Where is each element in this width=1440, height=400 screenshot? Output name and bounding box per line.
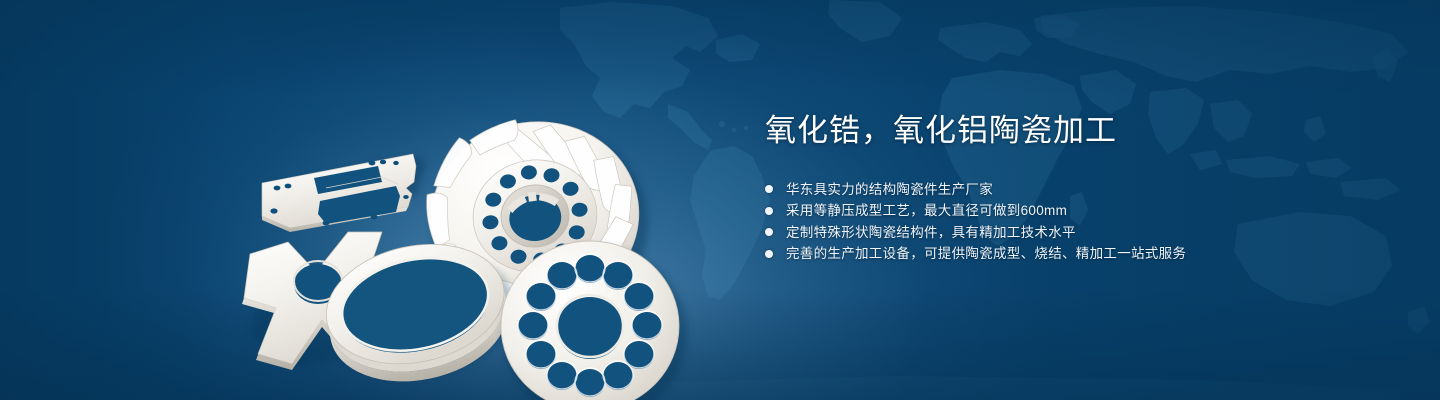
- feature-text: 采用等静压成型工艺，最大直径可做到600mm: [786, 203, 1067, 218]
- bullet-dot-icon: [765, 228, 773, 236]
- feature-text: 华东具实力的结构陶瓷件生产厂家: [786, 182, 993, 197]
- bullet-dot-icon: [765, 250, 773, 258]
- banner-copy: 氧化锆，氧化铝陶瓷加工 华东具实力的结构陶瓷件生产厂家 采用等静压成型工艺，最大…: [765, 112, 1385, 265]
- feature-item: 完善的生产加工设备，可提供陶瓷成型、烧结、精加工一站式服务: [765, 243, 1385, 265]
- feature-text: 完善的生产加工设备，可提供陶瓷成型、烧结、精加工一站式服务: [786, 246, 1186, 261]
- feature-text: 定制特殊形状陶瓷结构件，具有精加工技术水平: [786, 225, 1076, 240]
- feature-item: 采用等静压成型工艺，最大直径可做到600mm: [765, 200, 1385, 222]
- feature-list: 华东具实力的结构陶瓷件生产厂家 采用等静压成型工艺，最大直径可做到600mm 定…: [765, 179, 1385, 265]
- product-photo: [230, 36, 710, 386]
- bullet-dot-icon: [765, 207, 773, 215]
- feature-item: 定制特殊形状陶瓷结构件，具有精加工技术水平: [765, 222, 1385, 244]
- ceramic-plate: [262, 154, 426, 232]
- banner-headline: 氧化锆，氧化铝陶瓷加工: [765, 112, 1385, 151]
- bullet-dot-icon: [765, 185, 773, 193]
- feature-item: 华东具实力的结构陶瓷件生产厂家: [765, 179, 1385, 201]
- ceramic-hole-disc: [501, 241, 687, 400]
- hero-banner: 氧化锆，氧化铝陶瓷加工 华东具实力的结构陶瓷件生产厂家 采用等静压成型工艺，最大…: [0, 0, 1440, 400]
